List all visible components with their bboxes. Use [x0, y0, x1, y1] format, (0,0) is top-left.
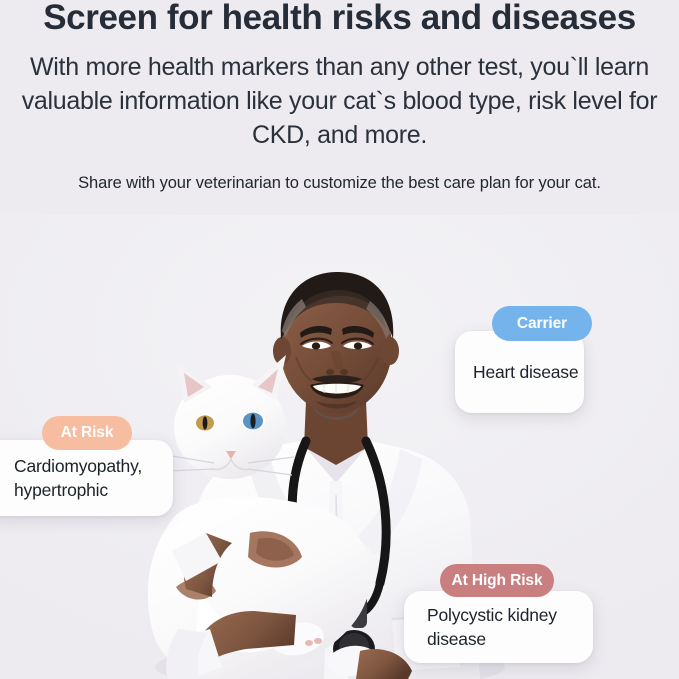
status-badge-label: Carrier: [517, 315, 567, 333]
status-badge-label: At Risk: [61, 424, 114, 442]
status-badge-carrier: Carrier: [492, 306, 592, 341]
result-card-condition: Heart disease: [473, 360, 578, 384]
subheadline-text: With more health markers than any other …: [16, 50, 663, 152]
promo-panel: Screen for health risks and diseases Wit…: [0, 0, 679, 679]
status-badge-at-high-risk: At High Risk: [440, 564, 554, 597]
caption-text: Share with your veterinarian to customiz…: [16, 172, 663, 195]
result-card-cardiomyopathy[interactable]: Cardiomyopathy, hypertrophic: [0, 440, 173, 516]
page-title: Screen for health risks and diseases: [0, 0, 679, 40]
result-card-condition: Cardiomyopathy, hypertrophic: [14, 454, 173, 502]
result-card-condition: Polycystic kidney disease: [427, 603, 593, 651]
result-card-polycystic-kidney-disease[interactable]: Polycystic kidney disease: [404, 591, 593, 663]
status-badge-at-risk: At Risk: [42, 416, 132, 450]
result-card-heart-disease[interactable]: Heart disease: [455, 331, 584, 413]
status-badge-label: At High Risk: [452, 572, 543, 590]
